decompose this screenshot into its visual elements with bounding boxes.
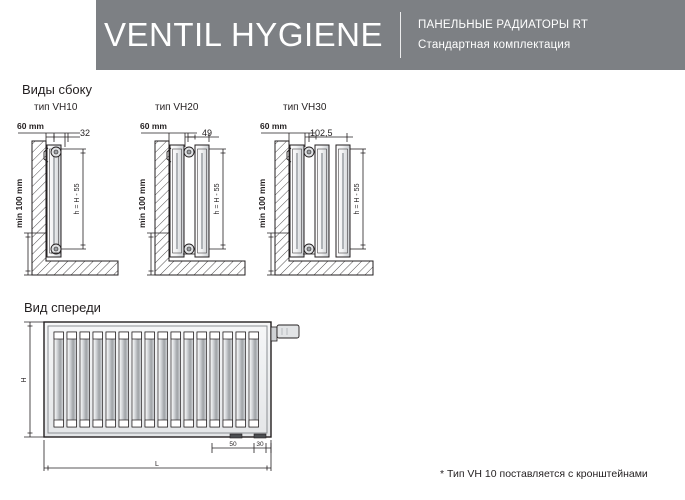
radiator-panel-1 xyxy=(290,145,304,257)
dimension-label-min100-vh30: min 100 mm xyxy=(257,179,267,228)
dimension-label-depth-vh20: 49 xyxy=(202,128,212,138)
fin xyxy=(171,332,181,427)
fin xyxy=(210,332,220,427)
dimension-30-label: 30 xyxy=(256,441,264,448)
valve-connector-icon xyxy=(271,325,299,341)
fin xyxy=(93,332,103,427)
type-label-vh10: тип VH10 xyxy=(34,102,77,113)
fin xyxy=(197,332,207,427)
footnote-text: * Тип VH 10 поставляется с кронштейнами xyxy=(440,468,648,480)
dimension-height-label: h = H - 55 xyxy=(214,183,221,214)
header-subtitle-primary: ПАНЕЛЬНЫЕ РАДИАТОРЫ RT xyxy=(418,19,588,31)
valve-top-icon xyxy=(304,147,315,157)
valve-top-icon xyxy=(184,147,195,157)
type-label-vh30: тип VH30 xyxy=(283,102,326,113)
fin xyxy=(54,332,64,427)
fin xyxy=(158,332,168,427)
fin xyxy=(67,332,77,427)
side-views-heading: Виды сбоку xyxy=(22,82,92,97)
side-view-diagram-vh10: h = H - 55 xyxy=(10,115,135,295)
dimension-50-label: 50 xyxy=(229,441,237,448)
page-root: VENTIL HYGIENE ПАНЕЛЬНЫЕ РАДИАТОРЫ RT Ст… xyxy=(0,0,685,500)
fin xyxy=(184,332,194,427)
radiator-panel-2 xyxy=(195,145,209,257)
fin xyxy=(106,332,116,427)
side-view-diagram-vh20: h = H - 55 xyxy=(133,115,263,295)
valve-bottom-icon xyxy=(303,244,315,254)
dimension-height-label: h = H - 55 xyxy=(74,183,81,214)
radiator-panel-3 xyxy=(336,145,350,257)
fin xyxy=(223,332,233,427)
dimension-label-depth-vh30: 102,5 xyxy=(310,128,333,138)
radiator-panel-2 xyxy=(315,145,329,257)
fin xyxy=(236,332,246,427)
dimension-label-60mm-vh30: 60 mm xyxy=(260,121,287,131)
fin xyxy=(132,332,142,427)
type-label-vh20: тип VH20 xyxy=(155,102,198,113)
radiator-panel-1 xyxy=(170,145,184,257)
page-title: VENTIL HYGIENE xyxy=(104,16,383,54)
fin xyxy=(249,332,259,427)
dimension-label-min100-vh20: min 100 mm xyxy=(137,179,147,228)
dimension-height-label: h = H - 55 xyxy=(354,183,361,214)
side-view-diagram-vh30: h = H - 55 xyxy=(253,115,388,295)
dimension-depth-32 xyxy=(54,133,80,142)
dimension-length-L-label: L xyxy=(155,461,159,468)
fin xyxy=(80,332,90,427)
front-view-heading: Вид спереди xyxy=(24,300,101,315)
fin xyxy=(145,332,155,427)
valve-bottom-icon xyxy=(183,244,195,254)
radiator-panel-vh10 xyxy=(47,145,61,257)
dimension-label-min100-vh10: min 100 mm xyxy=(14,179,24,228)
header-subtitle-secondary: Стандартная комплектация xyxy=(418,39,570,51)
page-header: VENTIL HYGIENE ПАНЕЛЬНЫЕ РАДИАТОРЫ RT Ст… xyxy=(0,0,685,70)
front-view-diagram: H L 50 30 xyxy=(14,316,334,496)
dimension-label-depth-vh10: 32 xyxy=(80,128,90,138)
header-left-white-strip xyxy=(0,0,96,70)
dimension-label-60mm-vh20: 60 mm xyxy=(140,121,167,131)
dimension-top-60mm xyxy=(141,133,197,147)
valve-bottom-icon xyxy=(51,244,61,254)
dimension-label-60mm-vh10: 60 mm xyxy=(17,121,44,131)
header-divider xyxy=(400,12,401,58)
fin xyxy=(119,332,129,427)
valve-top-icon xyxy=(51,147,61,157)
dimension-height-H-label: H xyxy=(21,377,28,382)
